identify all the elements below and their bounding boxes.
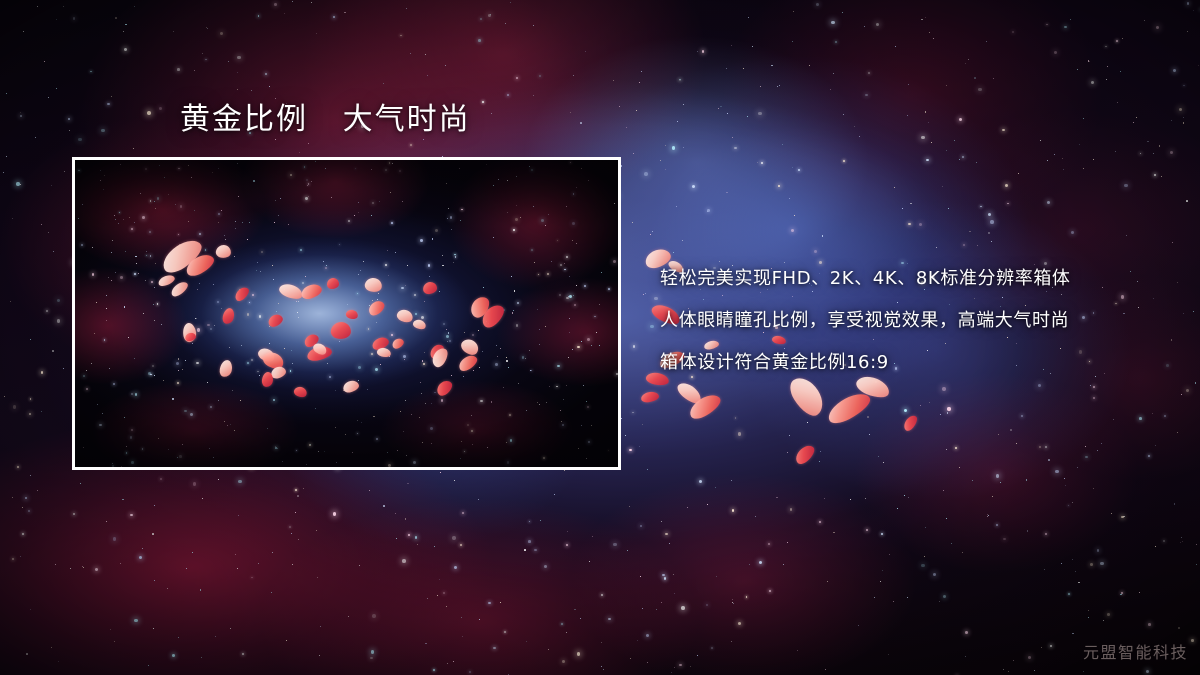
petal [293, 385, 309, 399]
petal [901, 413, 919, 433]
petal [376, 346, 392, 358]
petal [429, 346, 451, 370]
petal [266, 312, 284, 328]
inner-vignette [75, 160, 618, 467]
petal [302, 332, 320, 349]
inner-starfield [75, 160, 618, 467]
body-line-3: 箱体设计符合黄金比例16:9 [660, 342, 1180, 384]
petal [261, 372, 273, 388]
petal [824, 388, 874, 427]
petal [183, 251, 217, 279]
petal [219, 359, 234, 378]
petal [371, 335, 391, 351]
petal [427, 342, 446, 361]
petal [169, 279, 190, 298]
petal [467, 293, 493, 320]
petal [215, 244, 232, 259]
inner-galaxy-nebula [75, 160, 618, 467]
petal [640, 391, 659, 403]
petal [395, 307, 414, 324]
petal [330, 321, 352, 341]
petal [184, 332, 196, 342]
petal [327, 278, 339, 289]
petal [311, 341, 328, 357]
petal [792, 442, 817, 466]
petal [300, 282, 324, 301]
body-line-2: 人体眼睛瞳孔比例，享受视觉效果，高端大气时尚 [660, 300, 1180, 342]
petal [456, 353, 479, 374]
petal [306, 345, 333, 363]
petal [412, 318, 427, 331]
presentation-slide: 黄金比例 大气时尚 轻松完美实现FHD、2K、4K、8K标准分辨率箱体 人体眼睛… [0, 0, 1200, 675]
petal [478, 301, 508, 331]
petal [686, 391, 724, 423]
petal [342, 379, 360, 394]
petal [157, 273, 176, 287]
page-title: 黄金比例 大气时尚 [180, 101, 471, 139]
petal [221, 307, 235, 325]
petal [256, 346, 277, 365]
petal [366, 298, 387, 317]
petal [277, 281, 304, 302]
petal [363, 276, 383, 294]
watermark: 元盟智能科技 [1083, 639, 1188, 663]
petal [182, 322, 198, 343]
petal [270, 365, 287, 380]
petal [233, 285, 252, 303]
petal [345, 308, 359, 320]
inner-galaxy-core [75, 160, 618, 467]
body-line-1: 轻松完美实现FHD、2K、4K、8K标准分辨率箱体 [660, 258, 1180, 300]
petal [422, 281, 437, 294]
petal [261, 349, 287, 372]
petal [158, 235, 207, 278]
petal [391, 337, 406, 351]
body-text-block: 轻松完美实现FHD、2K、4K、8K标准分辨率箱体 人体眼睛瞳孔比例，享受视觉效… [660, 258, 1180, 384]
petal [434, 378, 455, 398]
petal [459, 336, 482, 358]
framed-galaxy-image [72, 157, 621, 470]
